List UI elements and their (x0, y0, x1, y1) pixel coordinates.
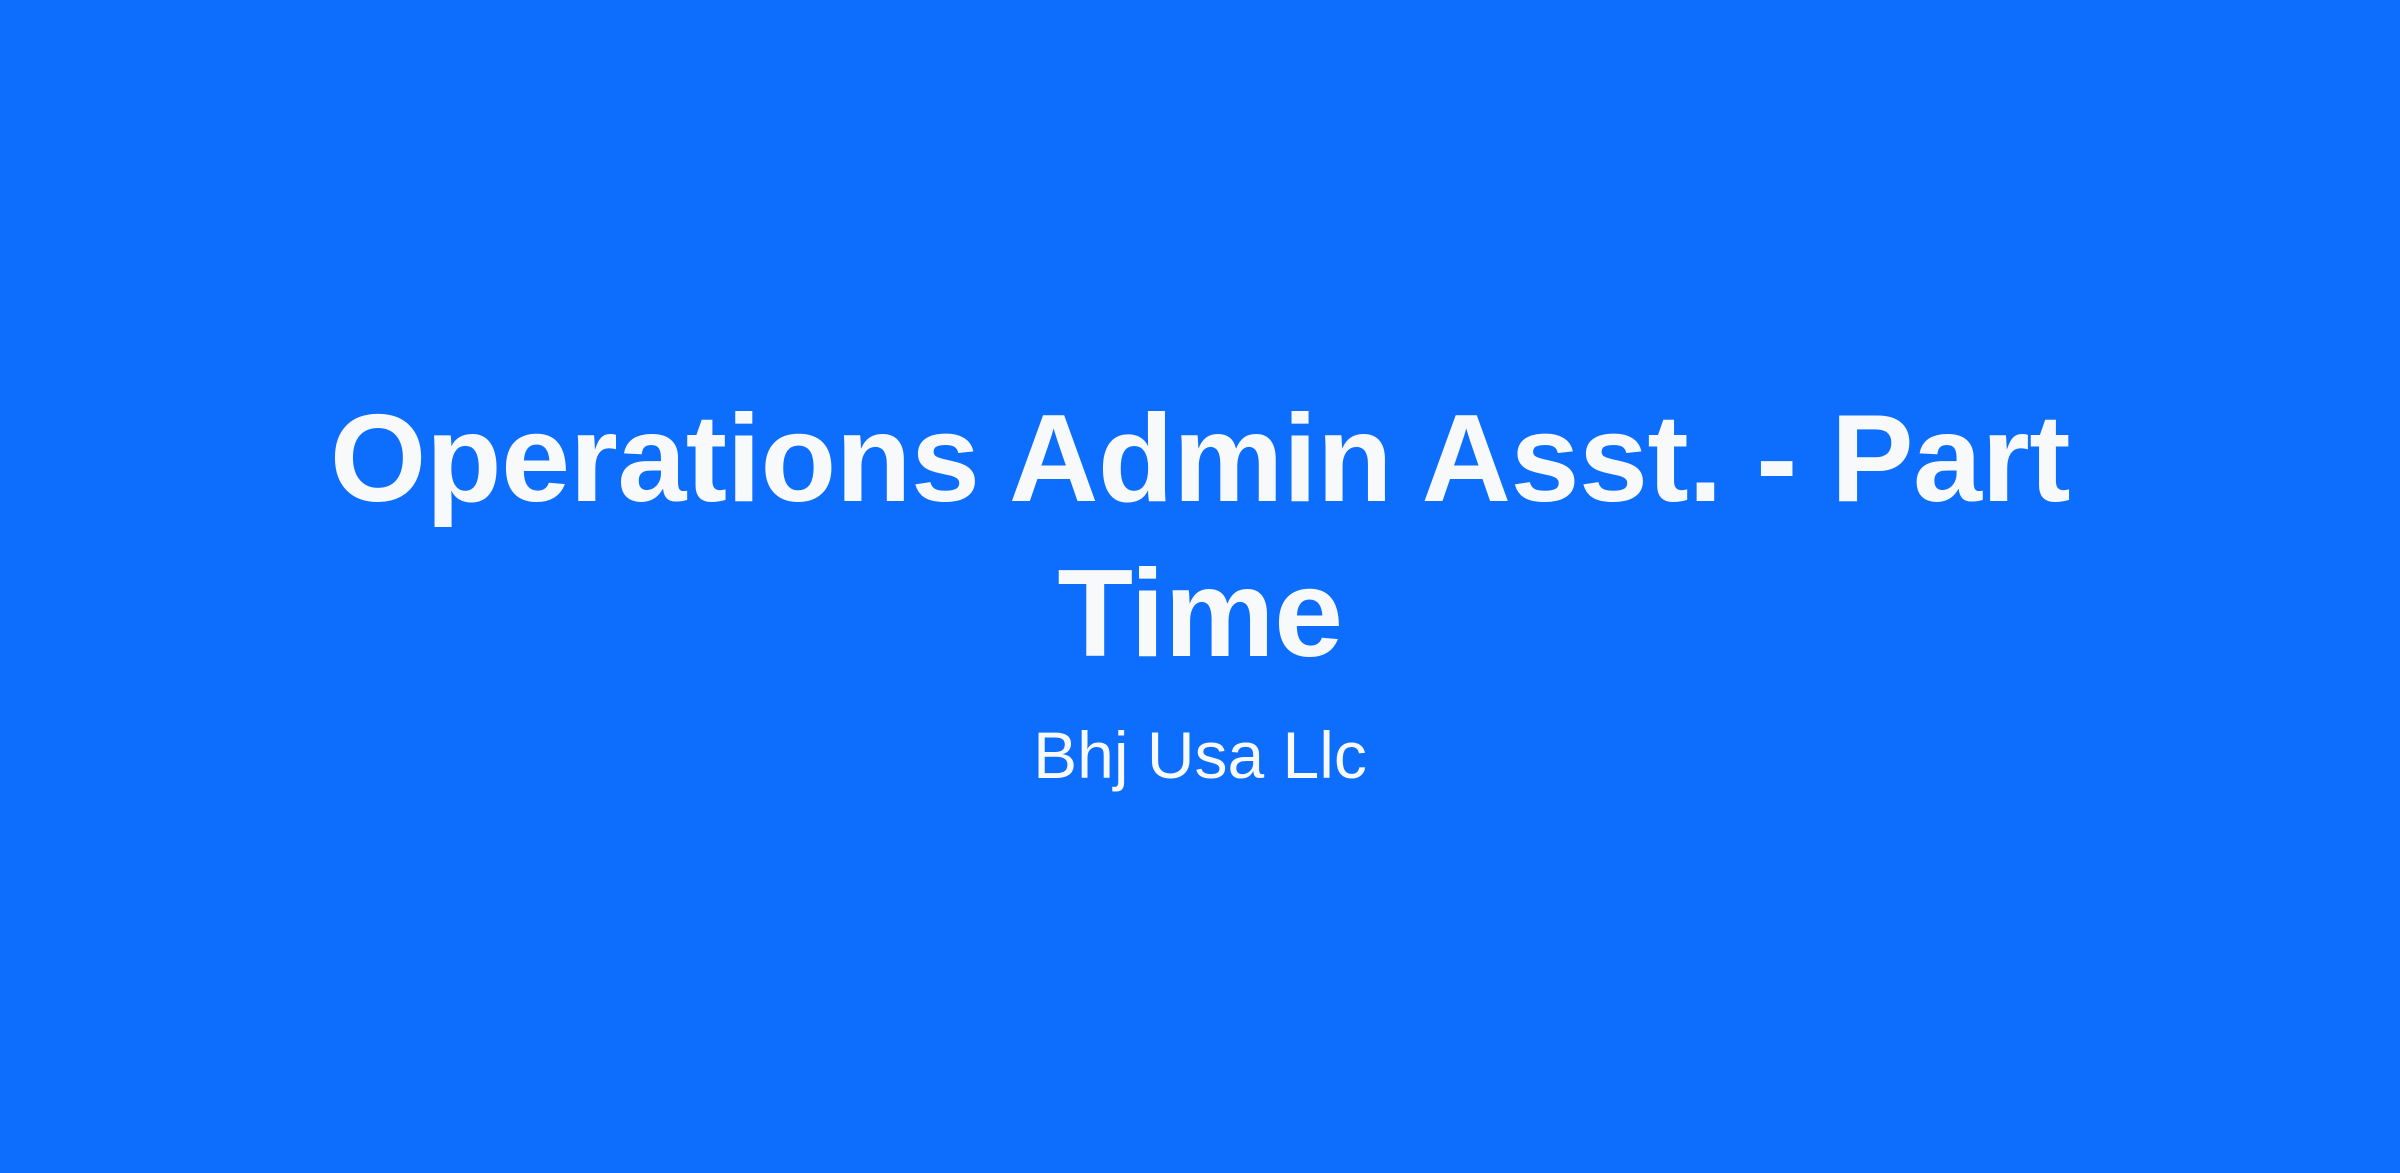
job-posting-card: Operations Admin Asst. - Part Time Bhj U… (0, 0, 2400, 1173)
company-name: Bhj Usa Llc (1033, 692, 1367, 797)
job-title: Operations Admin Asst. - Part Time (320, 382, 2080, 692)
job-card-content: Operations Admin Asst. - Part Time Bhj U… (0, 382, 2400, 797)
